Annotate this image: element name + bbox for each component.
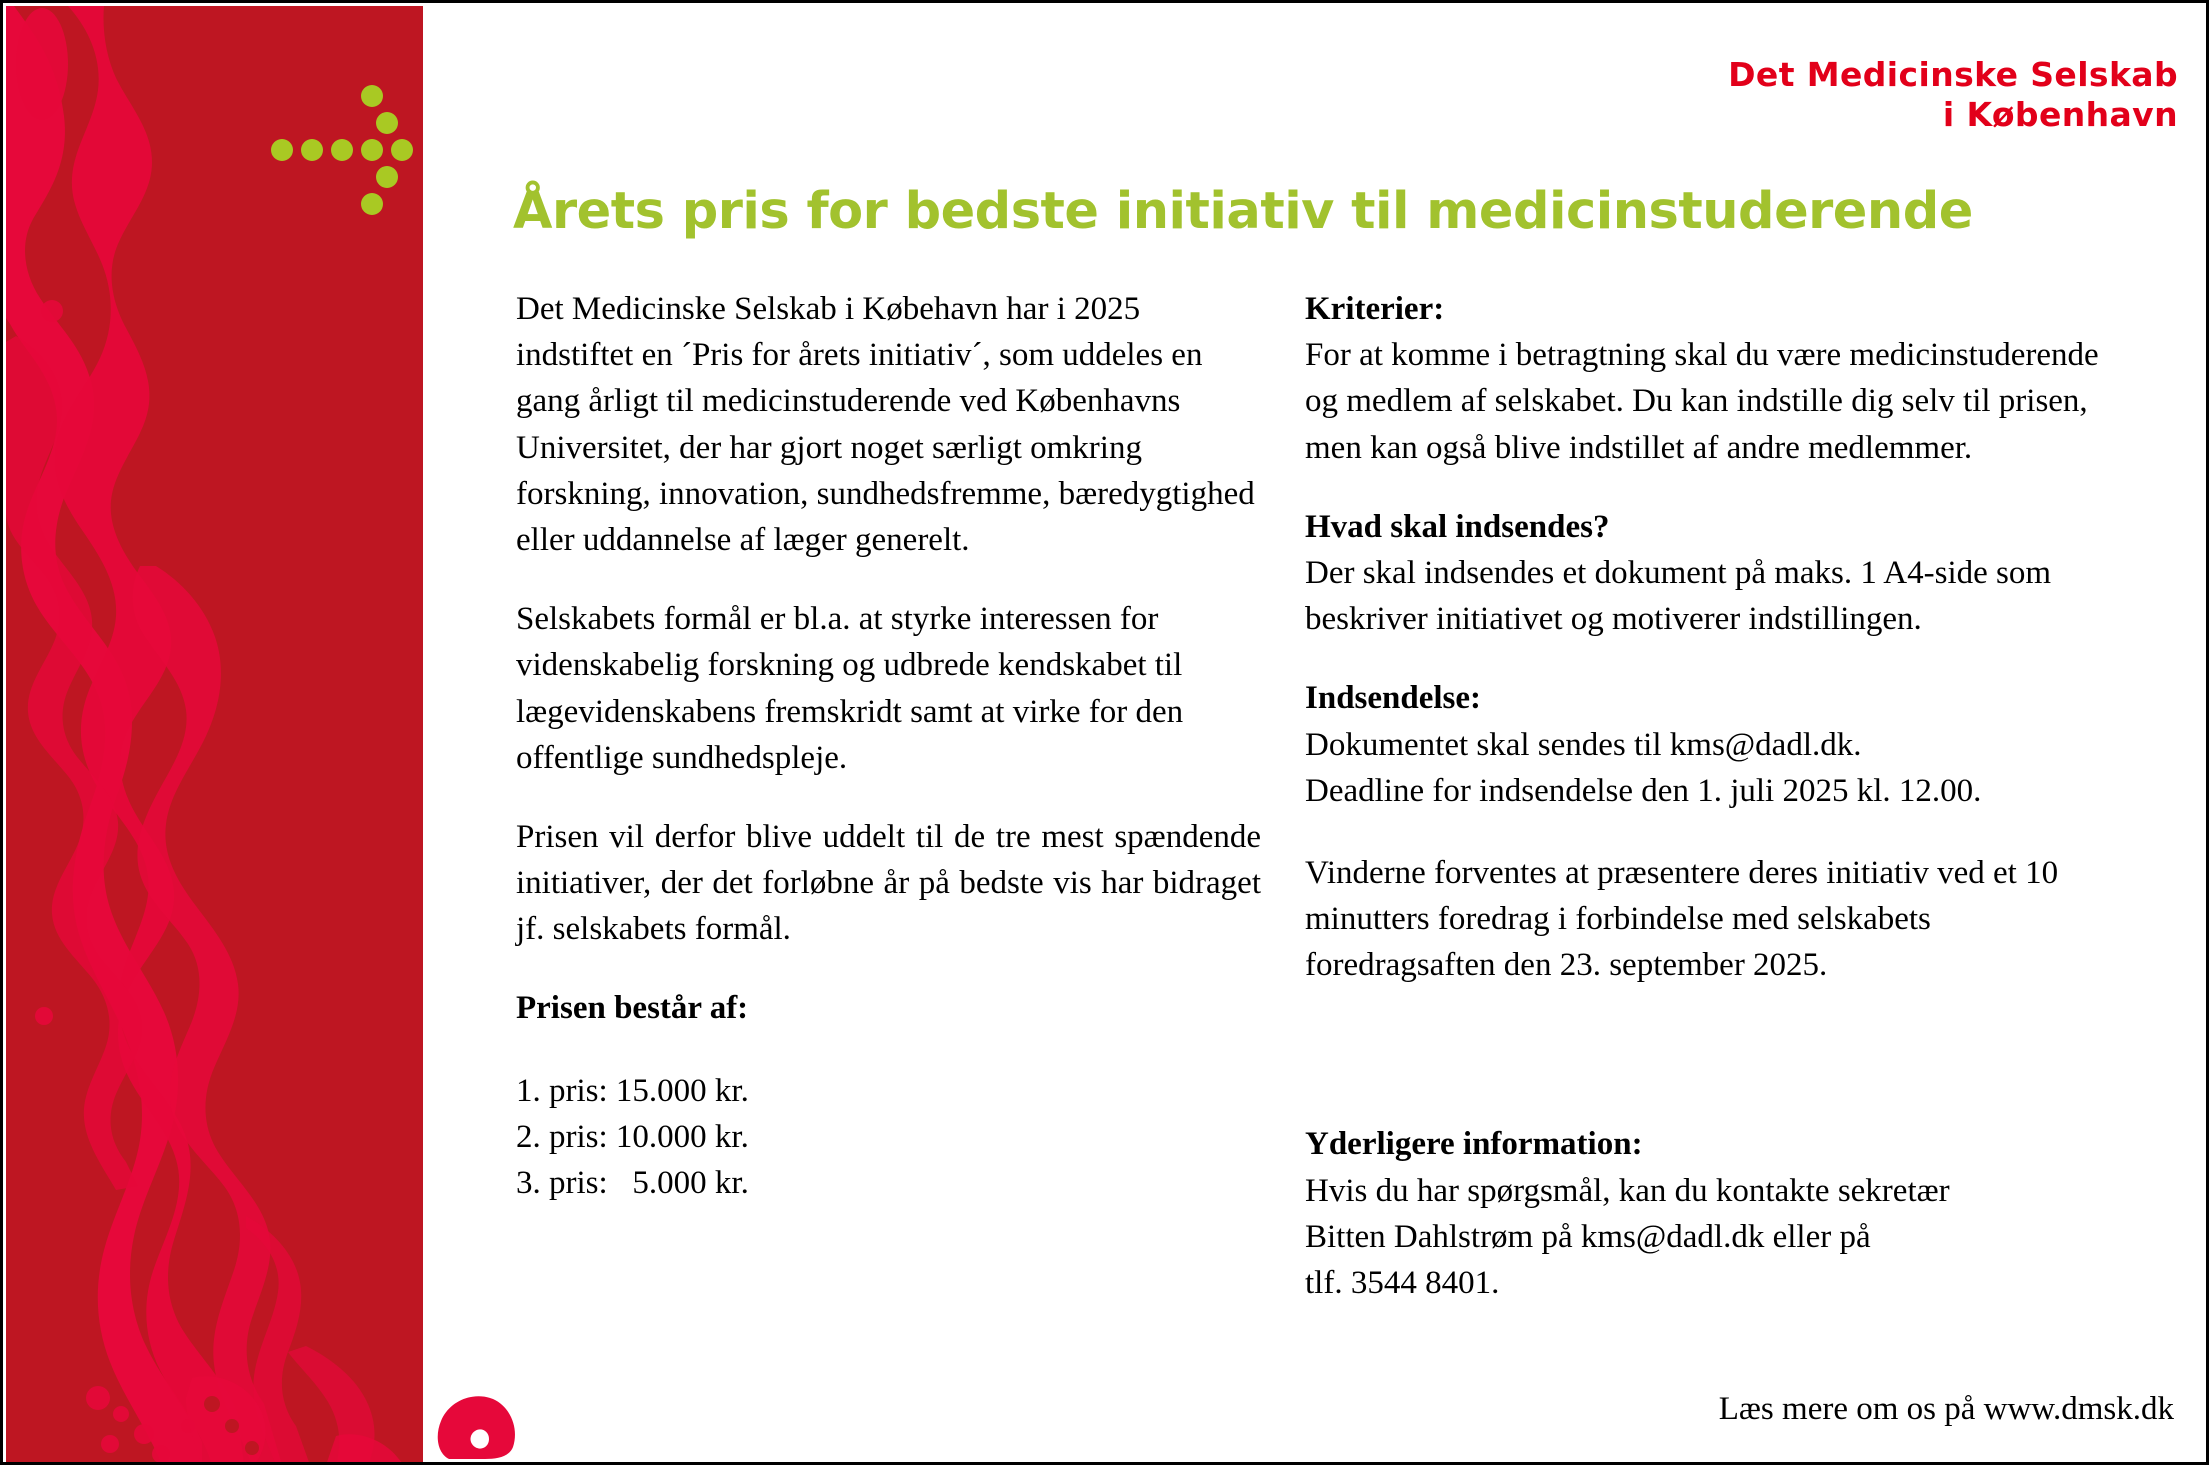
footer-more-info: Læs mere om os på www.dmsk.dk bbox=[1719, 1391, 2174, 1428]
organization-name-line1: Det Medicinske Selskab bbox=[1728, 55, 2178, 95]
sending-line2: Deadline for indsendelse den 1. juli 202… bbox=[1305, 768, 2115, 814]
spacer bbox=[1305, 814, 2115, 850]
organization-name-line2: i København bbox=[1728, 95, 2178, 135]
submission-body: Der skal indsendes et dokument på maks. … bbox=[1305, 550, 2115, 642]
criteria-heading: Kriterier: bbox=[1305, 286, 2115, 332]
info-line3: tlf. 3544 8401. bbox=[1305, 1260, 2115, 1306]
winners-body: Vinderne forventes at præsentere deres i… bbox=[1305, 850, 2115, 989]
prize-list-item: 1. pris: 15.000 kr. bbox=[516, 1068, 1261, 1114]
info-heading: Yderligere information: bbox=[1305, 1121, 2115, 1167]
red-vein-pattern-icon bbox=[6, 6, 423, 1465]
page-title: Årets pris for bedste initiativ til medi… bbox=[513, 185, 2178, 239]
submission-heading: Hvad skal indsendes? bbox=[1305, 504, 2115, 550]
info-line2: Bitten Dahlstrøm på kms@dadl.dk eller på bbox=[1305, 1214, 2115, 1260]
award-paragraph: Prisen vil derfor blive uddelt til de tr… bbox=[516, 814, 1261, 953]
logo-dot bbox=[376, 166, 398, 188]
prize-list: 1. pris: 15.000 kr. 2. pris: 10.000 kr. … bbox=[516, 1068, 1261, 1207]
logo-dot bbox=[331, 139, 353, 161]
prize-list-item: 3. pris: 5.000 kr. bbox=[516, 1160, 1261, 1206]
prize-list-item: 2. pris: 10.000 kr. bbox=[516, 1114, 1261, 1160]
logo-dot bbox=[391, 139, 413, 161]
decorative-red-panel bbox=[6, 6, 423, 1465]
intro-paragraph: Det Medicinske Selskab i Købehavn har i … bbox=[516, 286, 1261, 563]
sending-line1: Dokumentet skal sendes til kms@dadl.dk. bbox=[1305, 722, 2115, 768]
logo-dot bbox=[361, 193, 383, 215]
sending-heading: Indsendelse: bbox=[1305, 675, 2115, 721]
purpose-paragraph: Selskabets formål er bl.a. at styrke int… bbox=[516, 596, 1261, 781]
info-line1: Hvis du har spørgsmål, kan du kontakte s… bbox=[1305, 1168, 2115, 1214]
poster-page: Det Medicinske Selskab i København Årets… bbox=[0, 0, 2209, 1465]
spacer bbox=[516, 1032, 1261, 1068]
criteria-body: For at komme i betragtning skal du være … bbox=[1305, 332, 2115, 471]
logo-dot bbox=[376, 112, 398, 134]
logo-dot bbox=[301, 139, 323, 161]
right-column: Kriterier: For at komme i betragtning sk… bbox=[1305, 286, 2115, 1306]
left-column: Det Medicinske Selskab i Købehavn har i … bbox=[516, 286, 1261, 1206]
logo-dot bbox=[271, 139, 293, 161]
spacer bbox=[1305, 1021, 2115, 1121]
logo-dot bbox=[361, 139, 383, 161]
decorative-spill-blob bbox=[435, 1387, 525, 1459]
logo-dot bbox=[361, 85, 383, 107]
organization-name: Det Medicinske Selskab i København bbox=[1728, 55, 2178, 136]
prize-heading: Prisen består af: bbox=[516, 985, 1261, 1031]
spill-blob-icon bbox=[435, 1387, 525, 1459]
green-dot-arrow-logo bbox=[271, 75, 387, 173]
